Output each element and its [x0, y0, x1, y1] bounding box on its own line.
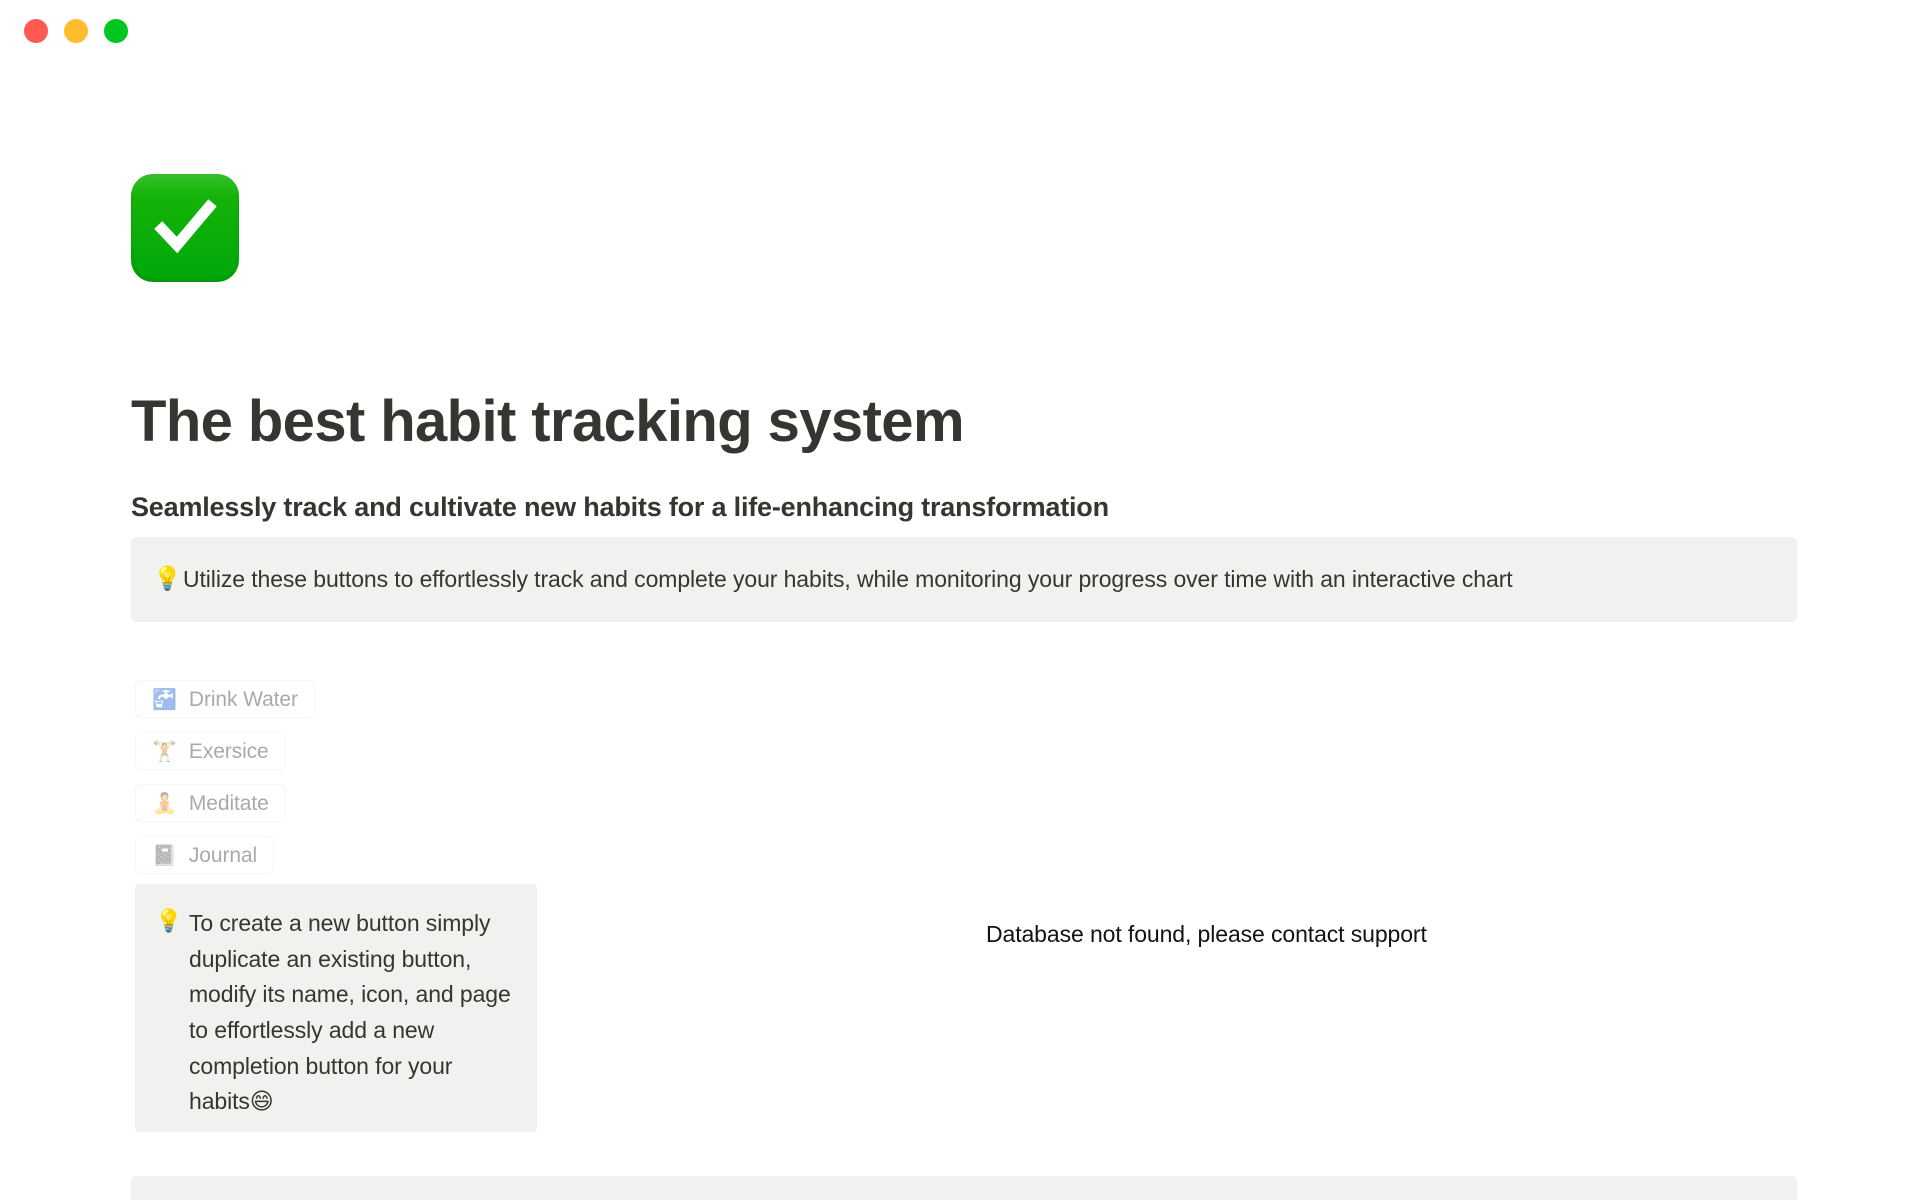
habit-button-label: Meditate [189, 793, 269, 814]
habit-button-label: Exersice [189, 741, 269, 762]
habit-button-label: Journal [189, 845, 257, 866]
habit-button-exersice[interactable]: 🏋️ Exersice [135, 732, 286, 770]
traffic-lights [24, 19, 128, 43]
notebook-icon: 📓 [152, 845, 177, 865]
page-subtitle: Seamlessly track and cultivate new habit… [131, 490, 1109, 525]
database-error-message: Database not found, please contact suppo… [986, 919, 1427, 950]
habit-button-label: Drink Water [189, 689, 298, 710]
potable-water-icon: 🚰 [152, 689, 177, 709]
close-window-button[interactable] [24, 19, 48, 43]
habit-button-list: 🚰 Drink Water 🏋️ Exersice 🧘 Meditate 📓 J… [135, 680, 315, 874]
callout-block-partial [131, 1176, 1797, 1200]
habit-button-drink-water[interactable]: 🚰 Drink Water [135, 680, 315, 718]
window-titlebar [0, 0, 1920, 62]
habit-button-meditate[interactable]: 🧘 Meditate [135, 784, 286, 822]
minimize-window-button[interactable] [64, 19, 88, 43]
habit-button-journal[interactable]: 📓 Journal [135, 836, 274, 874]
light-bulb-icon: 💡 [153, 563, 183, 596]
maximize-window-button[interactable] [104, 19, 128, 43]
white-heavy-check-mark-icon[interactable] [131, 174, 239, 282]
info-callout-tip: 💡 To create a new button simply duplicat… [135, 884, 537, 1132]
info-callout-tip-text: To create a new button simply duplicate … [189, 906, 515, 1120]
light-bulb-icon: 💡 [155, 906, 189, 938]
info-callout-top: 💡 Utilize these buttons to effortlessly … [131, 537, 1797, 622]
weight-lifter-icon: 🏋️ [152, 741, 177, 761]
info-callout-top-text: Utilize these buttons to effortlessly tr… [183, 562, 1775, 597]
lotus-position-icon: 🧘 [152, 793, 177, 813]
page-content: The best habit tracking system Seamlessl… [0, 62, 1920, 1200]
page-title: The best habit tracking system [131, 387, 964, 457]
